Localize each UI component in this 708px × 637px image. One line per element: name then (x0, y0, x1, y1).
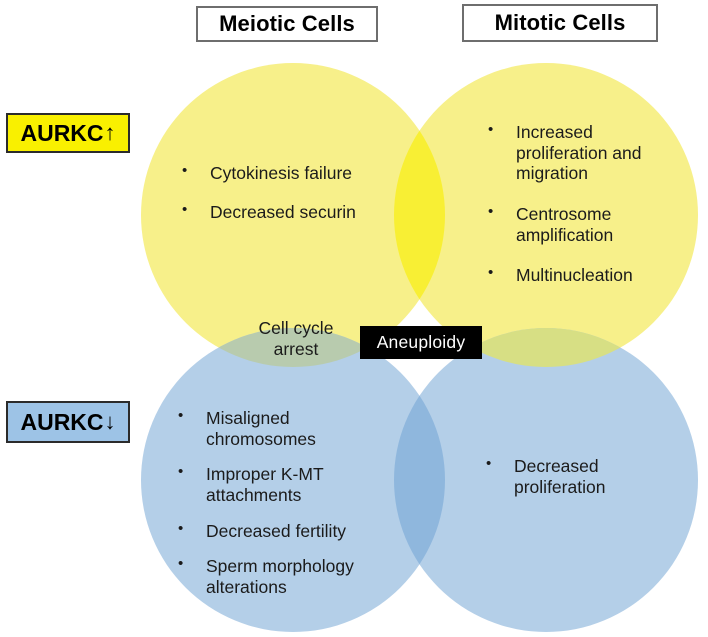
list-meiotic-up: Cytokinesis failure Decreased securin (176, 163, 406, 240)
header-mitotic-cells: Mitotic Cells (462, 4, 658, 42)
list-mitotic-up: Increased proliferation and migration Ce… (482, 122, 682, 306)
arrow-up-icon: ↑ (105, 122, 116, 144)
list-item: Cytokinesis failure (176, 163, 406, 184)
list-meiotic-down: Misaligned chromosomes Improper K-MT att… (172, 408, 404, 612)
list-item: Decreased proliferation (480, 456, 680, 497)
arrow-down-icon: ↓ (105, 411, 116, 433)
header-meiotic-cells: Meiotic Cells (196, 6, 378, 42)
label-aurkc-up: AURKC↑ (6, 113, 130, 153)
aurkc-up-gene: AURKC (20, 120, 103, 147)
label-aurkc-down: AURKC↓ (6, 401, 130, 443)
list-item: Misaligned chromosomes (172, 408, 404, 449)
list-item: Multinucleation (482, 265, 682, 286)
list-item: Improper K-MT attachments (172, 464, 404, 505)
cell-cycle-arrest-line1: Cell cycle (228, 318, 364, 339)
badge-aneuploidy: Aneuploidy (360, 326, 482, 359)
label-cell-cycle-arrest: Cell cycle arrest (228, 318, 364, 359)
cell-cycle-arrest-line2: arrest (228, 339, 364, 360)
list-mitotic-down: Decreased proliferation (480, 456, 680, 497)
aurkc-down-gene: AURKC (20, 409, 103, 436)
list-item: Increased proliferation and migration (482, 122, 682, 184)
venn-figure: Meiotic Cells Mitotic Cells AURKC↑ AURKC… (0, 0, 708, 637)
list-item: Decreased securin (176, 202, 406, 223)
list-item: Centrosome amplification (482, 204, 682, 245)
list-item: Decreased fertility (172, 521, 404, 542)
list-item: Sperm morphology alterations (172, 556, 404, 597)
